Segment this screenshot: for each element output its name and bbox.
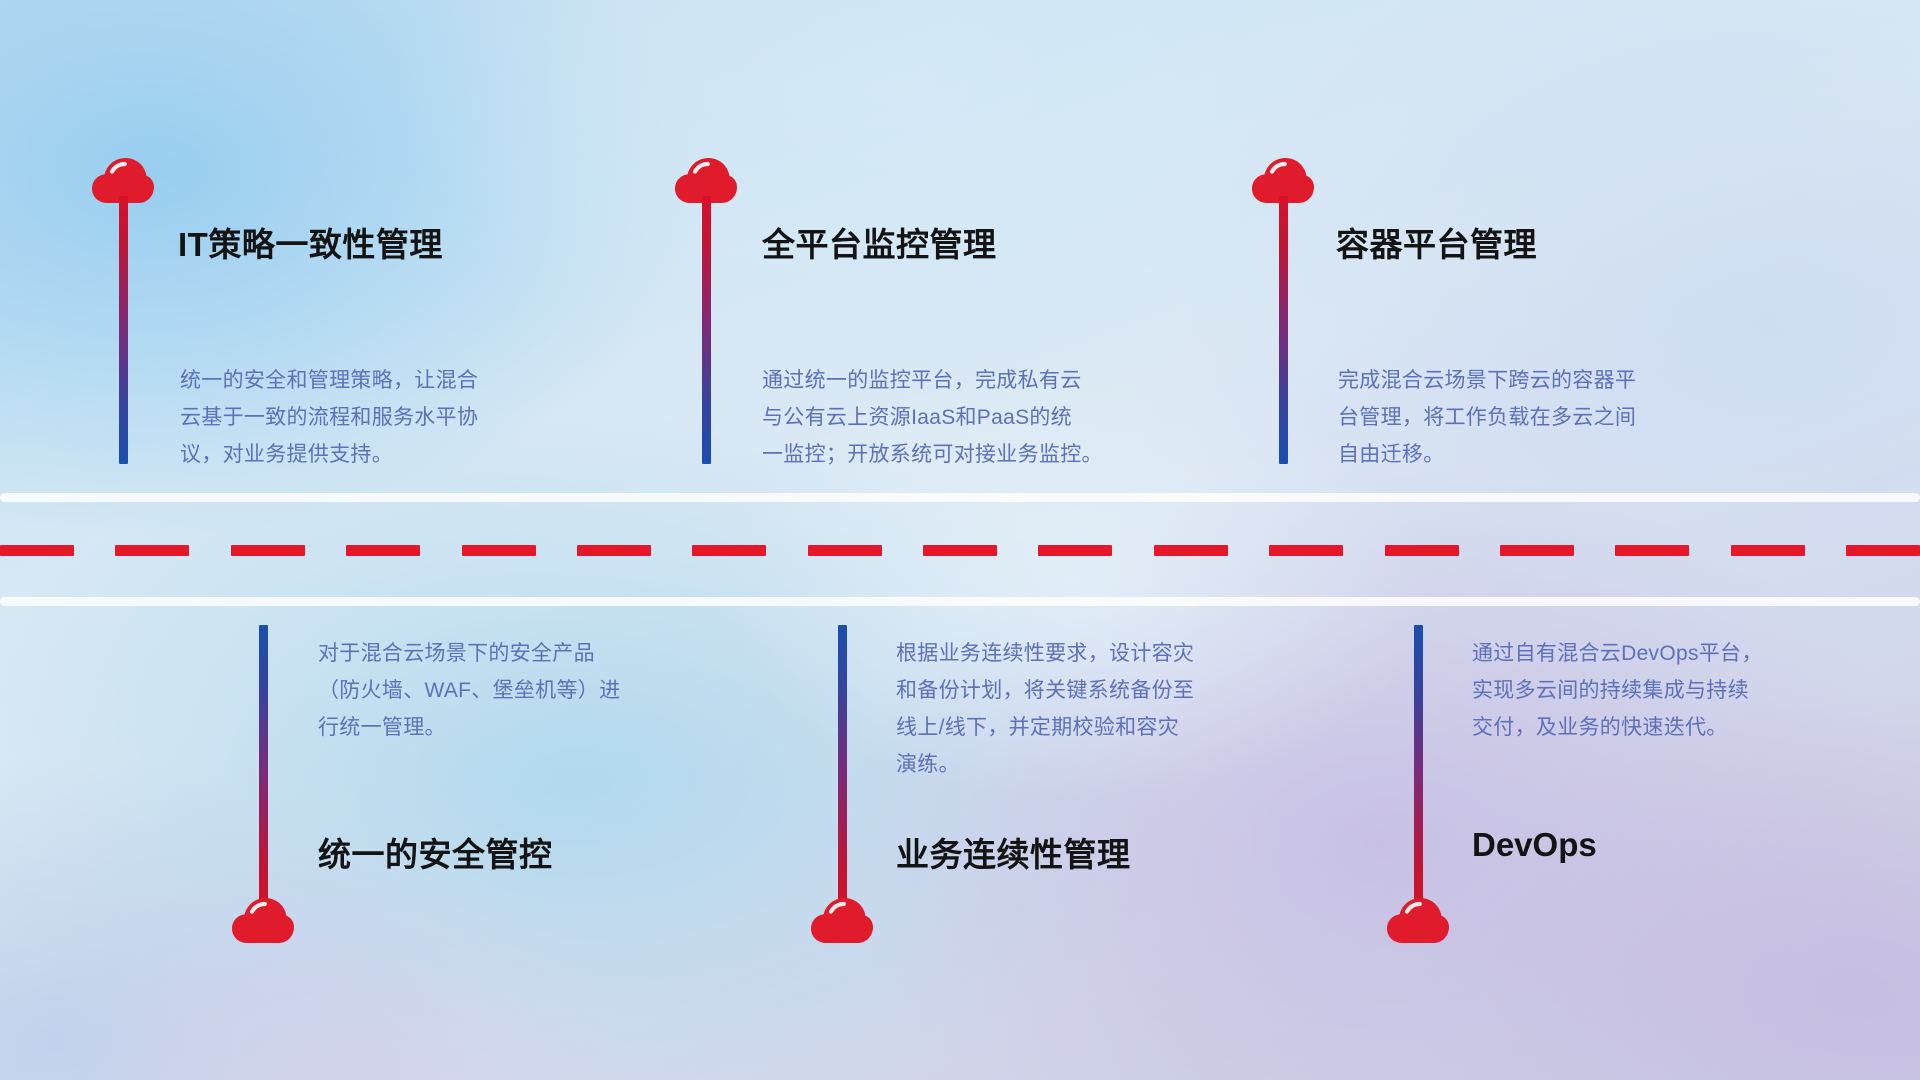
item-title: 全平台监控管理 (762, 218, 997, 266)
connector-stem (1279, 196, 1288, 464)
divider-dash-segment (115, 545, 189, 556)
divider-dash-segment (808, 545, 882, 556)
divider-dash-segment (1731, 545, 1805, 556)
item-title: 业务连续性管理 (896, 828, 1131, 876)
cloud-icon (1387, 898, 1449, 944)
item-description: 完成混合云场景下跨云的容器平 台管理，将工作负载在多云之间 自由迁移。 (1338, 362, 1788, 473)
cloud-icon (811, 898, 873, 944)
divider-dash-segment (1846, 545, 1920, 556)
divider-dash-segment (1154, 545, 1228, 556)
divider-dashed-line (0, 545, 1920, 556)
item-description: 通过统一的监控平台，完成私有云 与公有云上资源IaaS和PaaS的统 一监控；开… (762, 362, 1232, 473)
cloud-icon (232, 898, 294, 944)
divider-dash-segment (462, 545, 536, 556)
divider-bar-upper (0, 493, 1920, 502)
divider-dash-segment (1038, 545, 1112, 556)
divider-dash-segment (1500, 545, 1574, 556)
item-title: DevOps (1472, 826, 1597, 864)
divider-dash-segment (346, 545, 420, 556)
item-description: 对于混合云场景下的安全产品 （防火墙、WAF、堡垒机等）进 行统一管理。 (318, 635, 748, 746)
item-description: 通过自有混合云DevOps平台， 实现多云间的持续集成与持续 交付，及业务的快速… (1472, 635, 1902, 746)
divider-dash-segment (577, 545, 651, 556)
divider-dash-segment (231, 545, 305, 556)
item-title: 统一的安全管控 (318, 828, 553, 876)
connector-stem (1414, 625, 1423, 915)
divider-bar-lower (0, 597, 1920, 606)
divider-dash-segment (1615, 545, 1689, 556)
divider-dash-segment (1269, 545, 1343, 556)
item-description: 统一的安全和管理策略，让混合 云基于一致的流程和服务水平协 议，对业务提供支持。 (180, 362, 610, 473)
connector-stem (259, 625, 268, 915)
connector-stem (702, 196, 711, 464)
divider-dash-segment (0, 545, 74, 556)
infographic-stage: IT策略一致性管理 统一的安全和管理策略，让混合 云基于一致的流程和服务水平协 … (0, 0, 1920, 1080)
item-title: 容器平台管理 (1336, 218, 1537, 266)
connector-stem (119, 196, 128, 464)
divider-dash-segment (692, 545, 766, 556)
divider-dash-segment (923, 545, 997, 556)
item-description: 根据业务连续性要求，设计容灾 和备份计划，将关键系统备份至 线上/线下，并定期校… (896, 635, 1336, 783)
divider-dash-segment (1385, 545, 1459, 556)
item-title: IT策略一致性管理 (178, 218, 443, 266)
connector-stem (838, 625, 847, 915)
